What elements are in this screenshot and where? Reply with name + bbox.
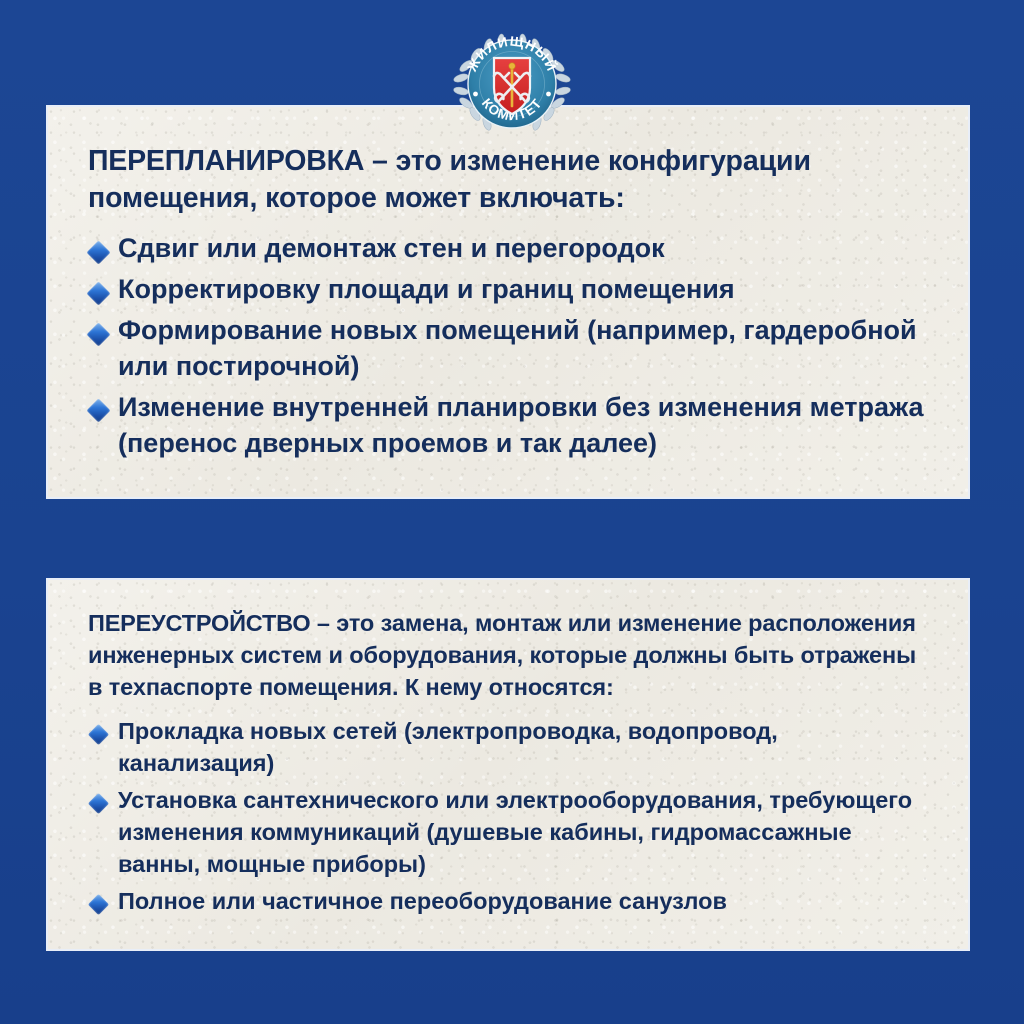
- term-pereplanirovka: ПЕРЕПЛАНИРОВКА: [88, 145, 364, 177]
- list-item-label: Прокладка новых сетей (электропроводка, …: [118, 718, 778, 776]
- list-item: Корректировку площади и границ помещения: [88, 272, 928, 308]
- list-item: Формирование новых помещений (например, …: [88, 313, 928, 385]
- diamond-bullet-icon: [88, 793, 109, 814]
- list-item: Изменение внутренней планировки без изме…: [88, 390, 928, 462]
- list-item-label: Сдвиг или демонтаж стен и перегородок: [118, 233, 665, 263]
- diamond-bullet-icon: [88, 894, 109, 915]
- diamond-bullet-icon: [86, 240, 110, 264]
- list-item-label: Формирование новых помещений (например, …: [118, 315, 917, 381]
- list-item-label: Полное или частичное переоборудование са…: [118, 888, 727, 914]
- card-pereplanirovka-lead: ПЕРЕПЛАНИРОВКА – это изменение конфигура…: [88, 143, 928, 217]
- list-item: Установка сантехнического или электрообо…: [88, 785, 928, 881]
- list-item-label: Установка сантехнического или электрообо…: [118, 787, 912, 877]
- list-item: Прокладка новых сетей (электропроводка, …: [88, 716, 928, 780]
- saint-petersburg-coat-of-arms: [494, 58, 530, 114]
- list-item: Полное или частичное переоборудование са…: [88, 886, 928, 918]
- list-item-label: Изменение внутренней планировки без изме…: [118, 392, 923, 458]
- card-pereustroystvo-lead: ПЕРЕУСТРОЙСТВО – это замена, монтаж или …: [88, 608, 928, 704]
- diamond-bullet-icon: [86, 281, 110, 305]
- diamond-bullet-icon: [88, 724, 109, 745]
- diamond-bullet-icon: [86, 399, 110, 423]
- term-pereustroystvo: ПЕРЕУСТРОЙСТВО: [88, 610, 310, 636]
- pereplanirovka-bullet-list: Сдвиг или демонтаж стен и перегородок Ко…: [88, 231, 928, 461]
- list-item: Сдвиг или демонтаж стен и перегородок: [88, 231, 928, 267]
- list-item-label: Корректировку площади и границ помещения: [118, 274, 735, 304]
- card-pereplanirovka: ПЕРЕПЛАНИРОВКА – это изменение конфигура…: [46, 105, 970, 499]
- card-pereustroystvo: ПЕРЕУСТРОЙСТВО – это замена, монтаж или …: [46, 578, 970, 951]
- zhilishchny-komitet-logo: ЖИЛИЩНЫЙ КОМИТЕТ: [450, 22, 574, 146]
- diamond-bullet-icon: [86, 322, 110, 346]
- poster-background: ЖИЛИЩНЫЙ КОМИТЕТ: [0, 0, 1024, 1024]
- pereustroystvo-bullet-list: Прокладка новых сетей (электропроводка, …: [88, 716, 928, 918]
